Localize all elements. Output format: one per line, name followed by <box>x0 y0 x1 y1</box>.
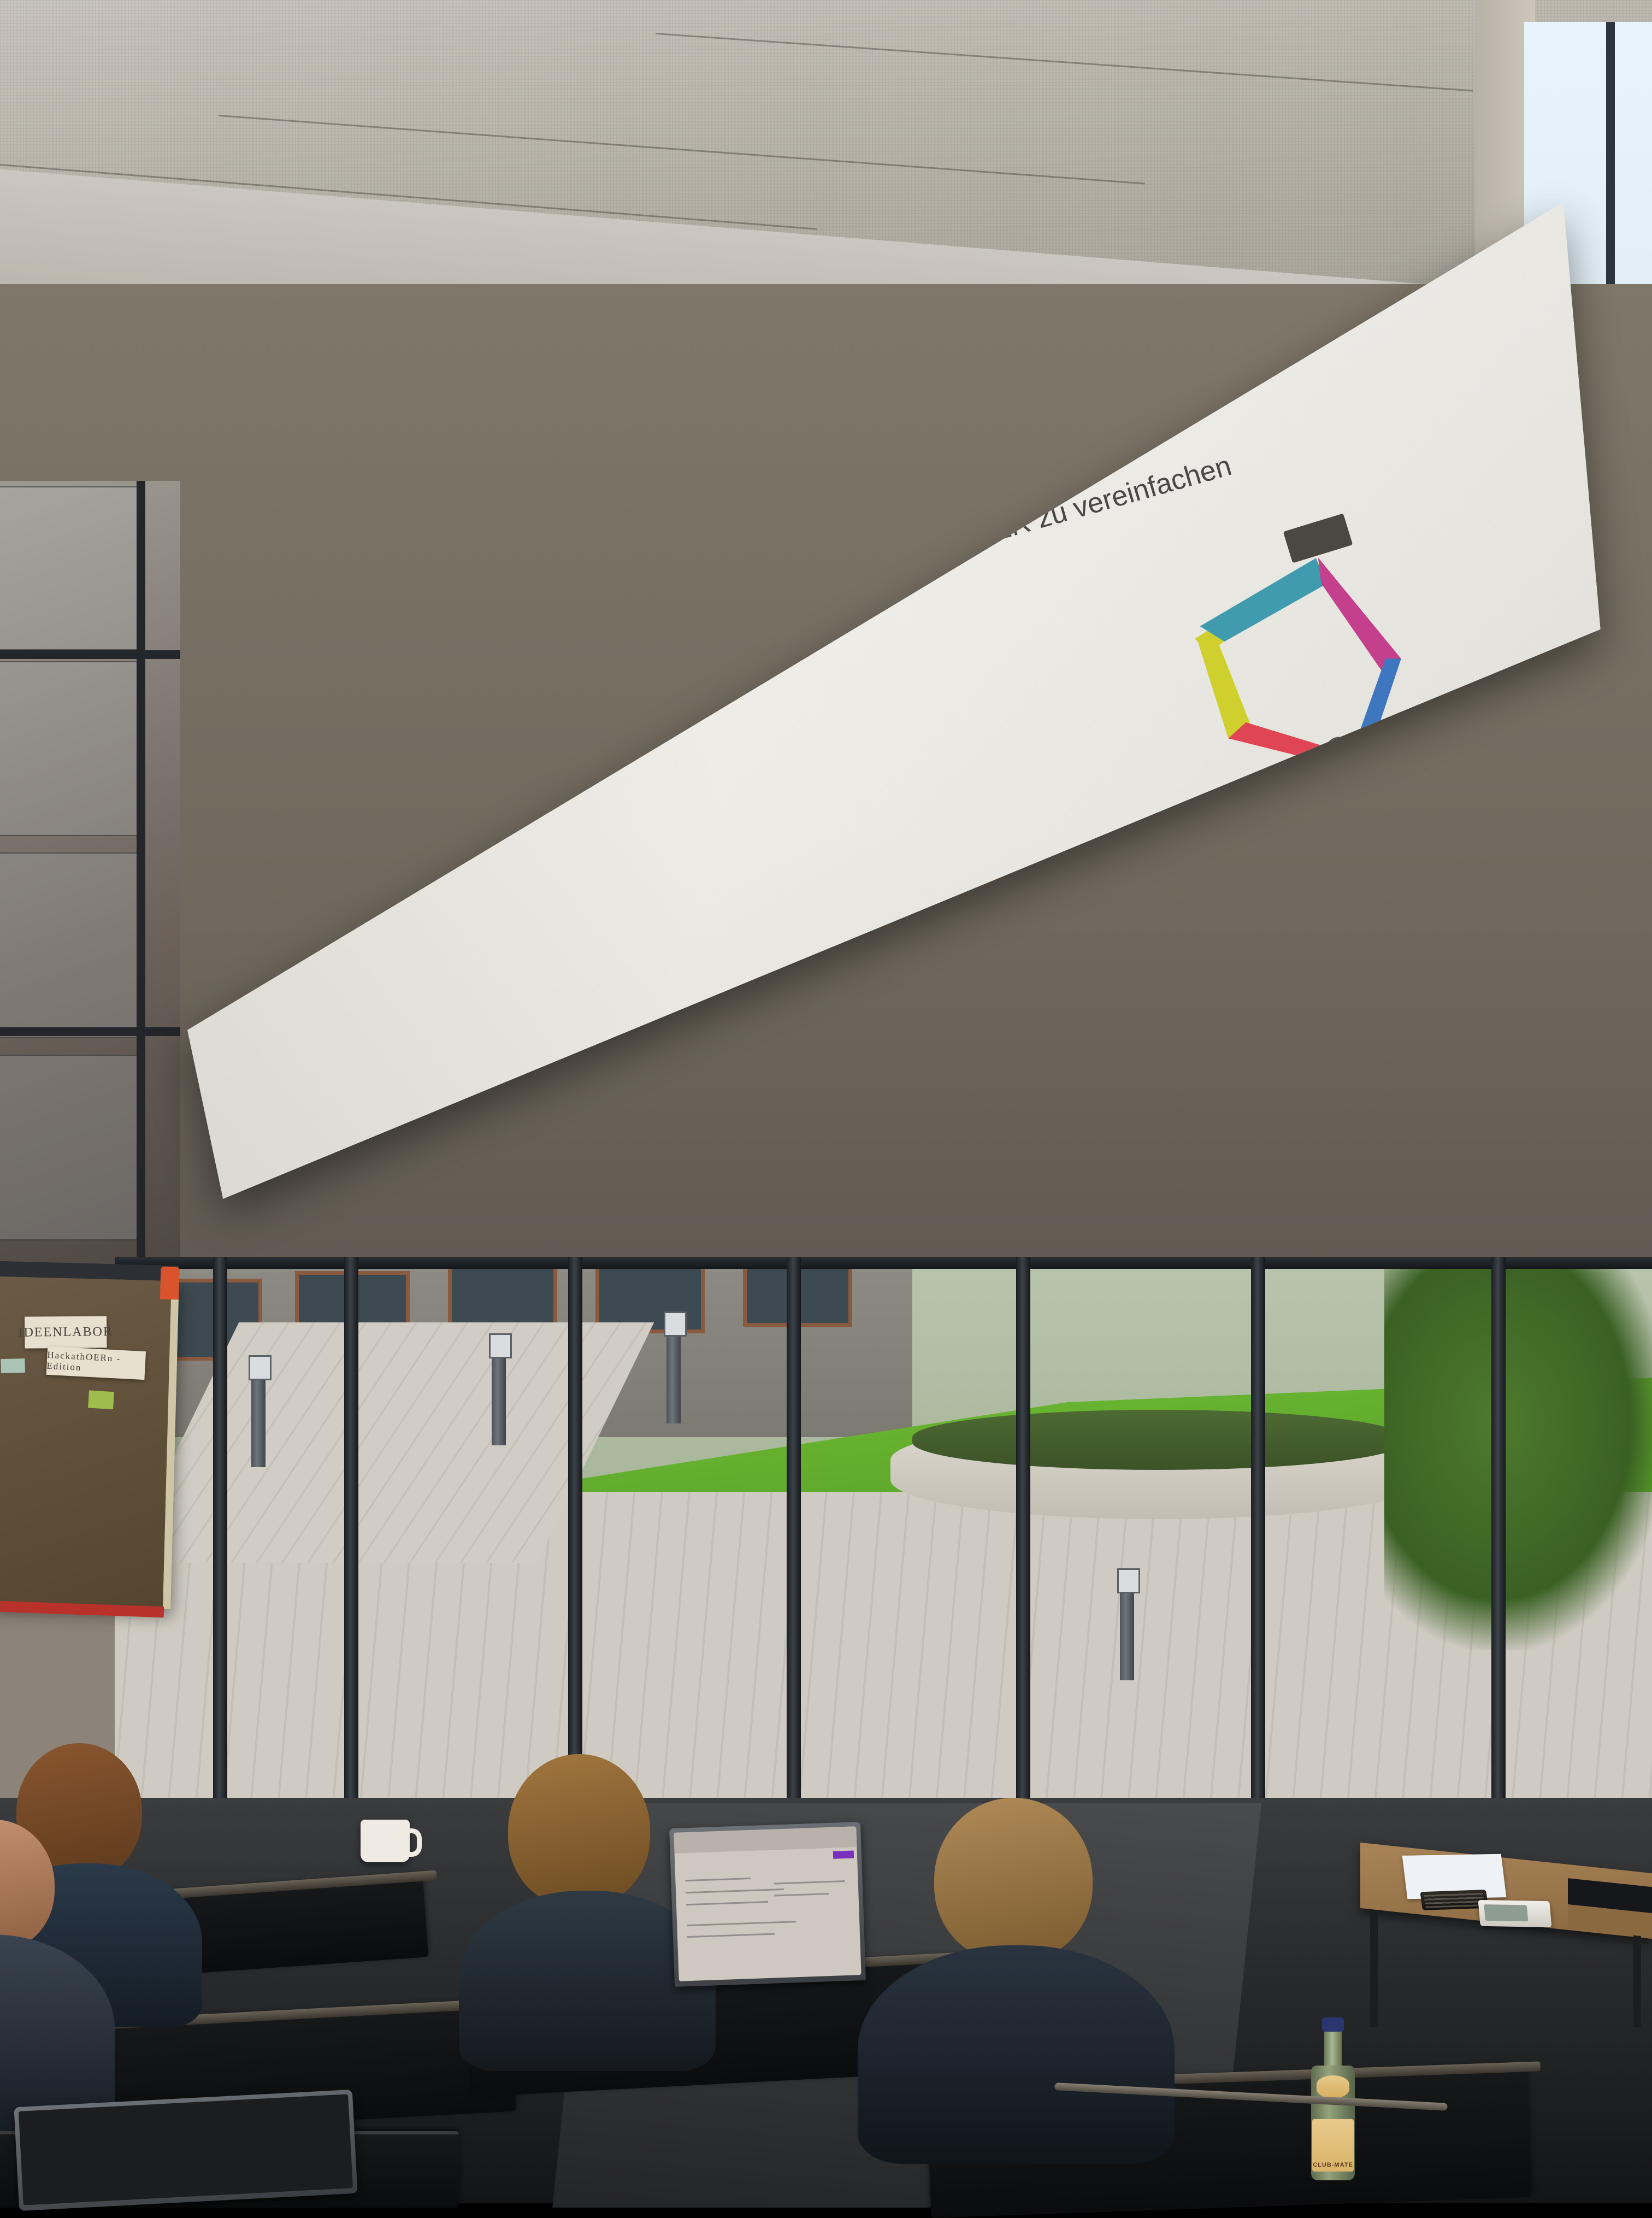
slide-title-text: HackathOERn in Göttingen <box>317 313 751 470</box>
bollard-light <box>492 1350 506 1445</box>
av-touch-panel[interactable] <box>1478 1900 1552 1927</box>
ceiling-seam <box>219 115 1145 184</box>
window-mullion <box>344 1257 358 1836</box>
laptop-keyboard <box>19 2094 353 2205</box>
bollard-light <box>1120 1585 1134 1680</box>
window-mullion <box>213 1257 227 1836</box>
pinboard-sign-ideenlabor: IDEENLABOR <box>25 1316 107 1348</box>
window-mullion <box>1251 1257 1265 1836</box>
planter-shrubs <box>912 1410 1404 1470</box>
glass-facade <box>115 1257 1652 1836</box>
window-mullion <box>568 1257 582 1836</box>
pinboard-corner-cap <box>160 1267 180 1300</box>
window-mullion <box>1491 1257 1506 1836</box>
slide-title: 1.HackathOERn in Göttingen <box>269 312 751 484</box>
left-atrium-glazing <box>0 481 180 1290</box>
courtyard-tree <box>1384 1257 1652 1650</box>
lectern-leg <box>1370 1913 1378 2027</box>
window-mullion <box>787 1257 801 1836</box>
sticky-note <box>88 1390 114 1409</box>
window-mullion <box>1016 1257 1030 1836</box>
attendee-laptop <box>14 2090 357 2211</box>
coffee-cup <box>361 1820 410 1862</box>
slide-title-number: 1. <box>270 437 310 484</box>
lecture-hall-scene: Hackath OERn <box>0 0 1652 2203</box>
laptop-screen <box>674 1826 861 1981</box>
sticky-note <box>1 1358 25 1373</box>
bottle-neck <box>1324 2027 1342 2071</box>
ceiling-seam <box>656 33 1473 92</box>
attendee-laptop <box>669 1822 866 1987</box>
laptop-accent-badge <box>833 1850 854 1858</box>
projection-screen: Hackath OERn <box>180 202 1606 1257</box>
lectern-equipment-box <box>1568 1878 1652 1938</box>
bollard-light <box>666 1328 681 1423</box>
laptop-titlebar <box>674 1826 857 1854</box>
lectern <box>1360 1858 1652 2038</box>
bottle-cap <box>1322 2017 1344 2032</box>
pinboard-sign-edition: HackathOERn - Edition <box>46 1346 146 1380</box>
bollard-light <box>251 1372 265 1467</box>
bottle-neck-label <box>1317 2075 1349 2098</box>
pinboard: IDEENLABOR HackathOERn - Edition <box>0 1276 179 1609</box>
bottle-label: CLUB-MATE <box>1312 2119 1354 2172</box>
